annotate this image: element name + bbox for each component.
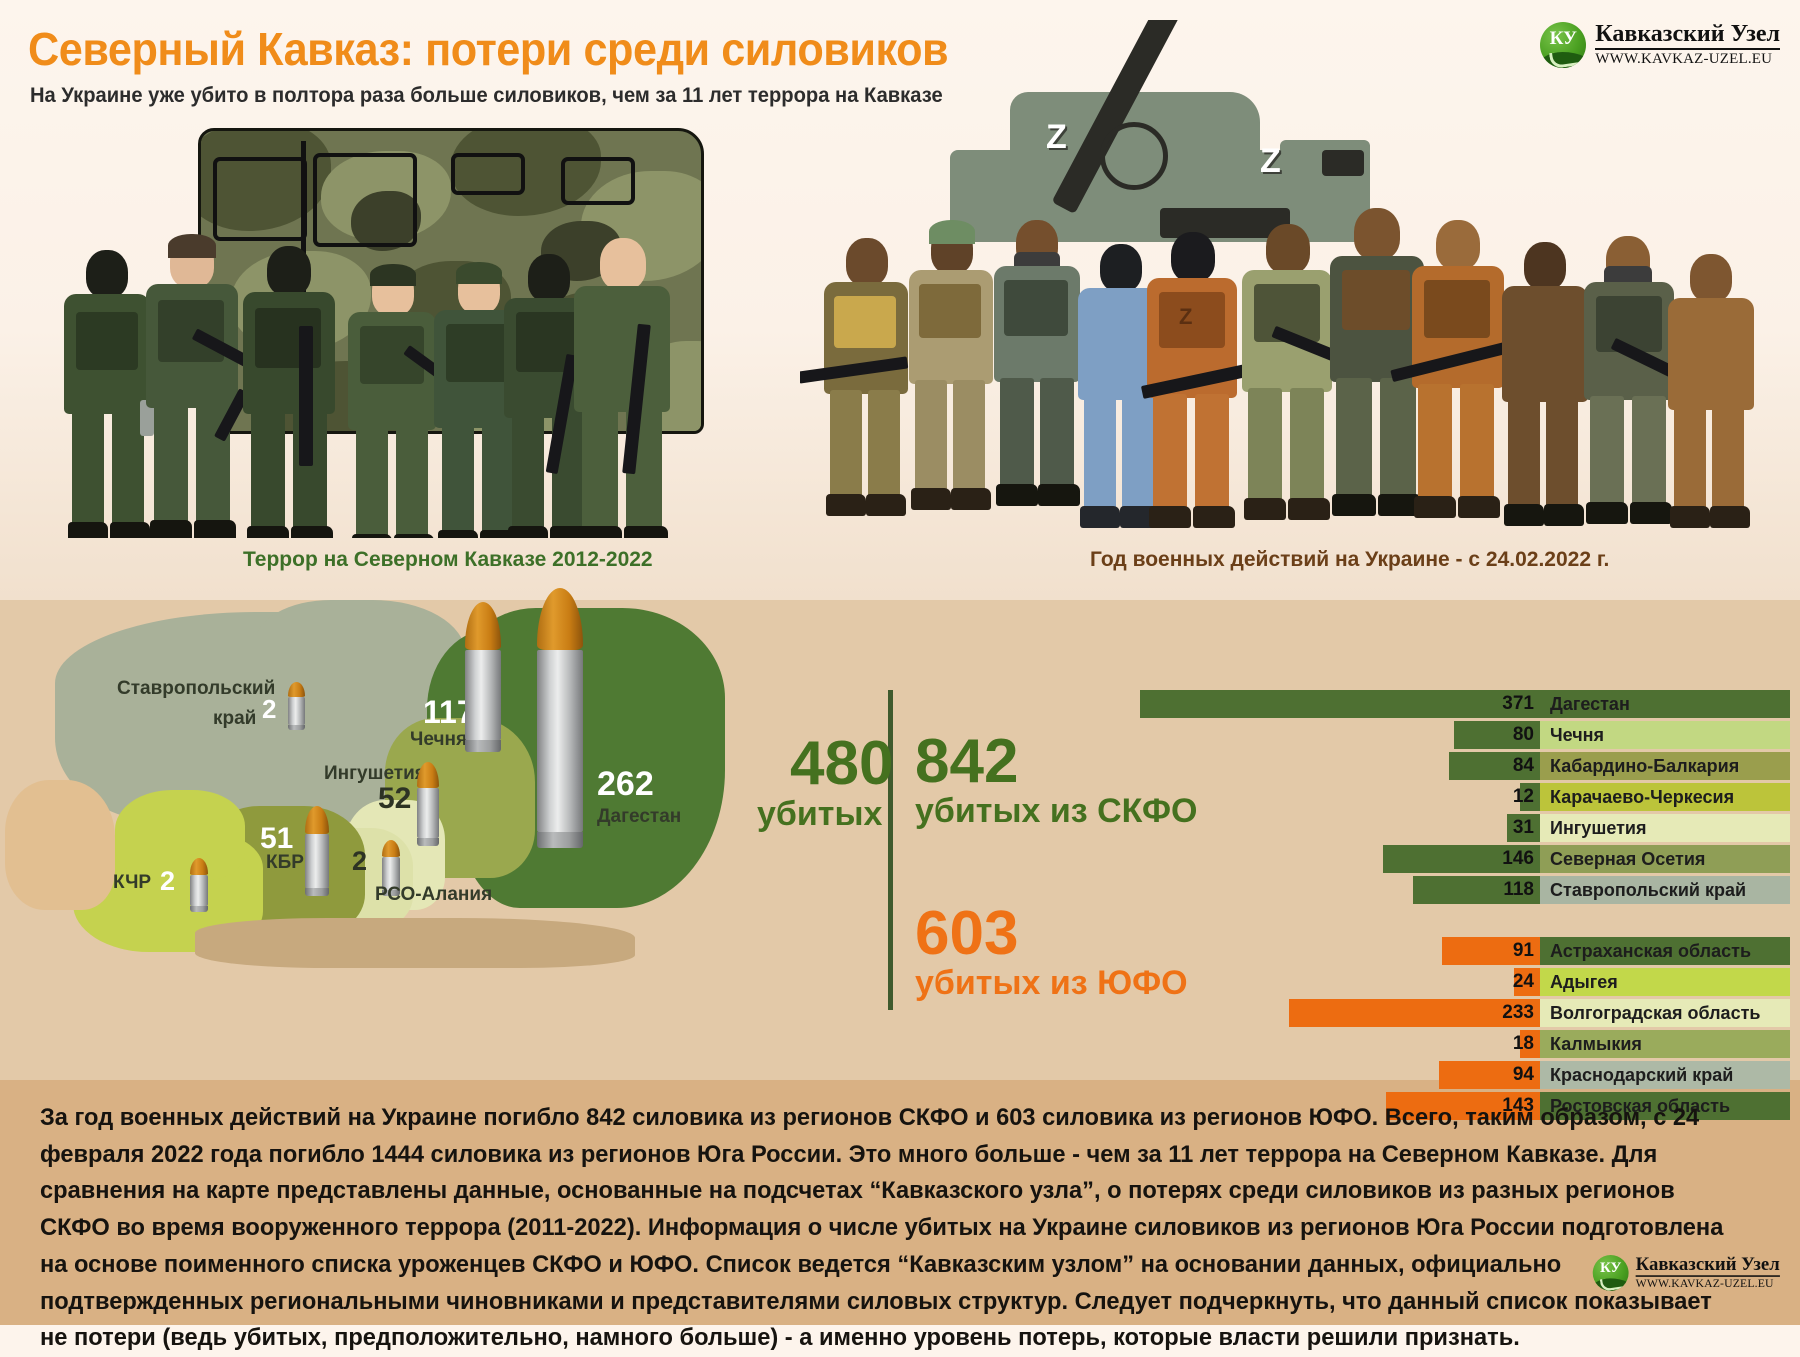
tank-vehicle: Z Z (950, 30, 1380, 260)
map-value-rso: 2 (352, 846, 367, 877)
map-value-dagestan: 262 (597, 765, 654, 804)
apc-window (213, 157, 307, 241)
bullet-icon-dagestan (537, 588, 583, 848)
chart-bar-track: 12 (1130, 783, 1540, 811)
chart-category-text: Северная Осетия (1550, 849, 1705, 870)
chart-bar-track: 91 (1130, 937, 1540, 965)
chart-bar-value: 18 (1513, 1030, 1534, 1058)
z-marking-icon: Z (1046, 118, 1067, 157)
chart-category-label: Адыгея (1540, 968, 1790, 996)
chart-bar-track: 31 (1130, 814, 1540, 842)
chart-row[interactable]: 94Краснодарский край (1130, 1061, 1790, 1089)
caption-right: Год военных действий на Украине - с 24.0… (1090, 548, 1609, 572)
chart-category-label: Ставропольский край (1540, 876, 1790, 904)
bullet-icon-chechnya (465, 602, 501, 752)
chart-bar-track: 18 (1130, 1030, 1540, 1058)
bar-chart-regions: 371Дагестан80Чечня84Кабардино-Балкария12… (1130, 690, 1790, 1123)
summary-map-value: 480 (790, 735, 893, 794)
chart-group-spacer (1130, 907, 1790, 937)
map-label-rso: РСО-Алания (375, 884, 492, 906)
chart-bar-track: 371 (1130, 690, 1540, 718)
map-label-stavropol-1: Ставропольский (117, 678, 275, 700)
logo-monogram: КУ (1593, 1260, 1629, 1277)
apc-window (313, 153, 417, 247)
map-label-kchr: КЧР (113, 872, 151, 894)
map-region-kchr-ext (115, 790, 245, 880)
chart-bar-value: 118 (1503, 876, 1534, 904)
chart-group-skfo: 371Дагестан80Чечня84Кабардино-Балкария12… (1130, 690, 1790, 904)
map-label-stavropol-2: край (213, 708, 256, 730)
chart-bar-track: 84 (1130, 752, 1540, 780)
chart-row[interactable]: 80Чечня (1130, 721, 1790, 749)
apc-hatch (451, 153, 525, 195)
chart-row[interactable]: 146Северная Осетия (1130, 845, 1790, 873)
chart-category-text: Дагестан (1550, 694, 1630, 715)
chart-bar-value: 24 (1513, 968, 1534, 996)
chart-group-yufo: 91Астраханская область24Адыгея233Волгогр… (1130, 937, 1790, 1120)
map-value-kchr: 2 (160, 866, 175, 897)
logo-name: Кавказский Узел (1636, 1255, 1780, 1277)
chart-category-text: Астраханская область (1550, 941, 1751, 962)
chart-category-text: Калмыкия (1550, 1034, 1642, 1055)
z-marking-icon: Z (1179, 304, 1192, 330)
chart-row[interactable]: 24Адыгея (1130, 968, 1790, 996)
summary-map-label: убитых (757, 798, 882, 830)
chart-bar-value: 31 (1513, 814, 1534, 842)
chart-category-text: Кабардино-Балкария (1550, 756, 1739, 777)
illustration-ukraine-forces: Z Z (800, 20, 1780, 538)
chart-row[interactable]: 31Ингушетия (1130, 814, 1790, 842)
chart-bar-value: 91 (1513, 937, 1534, 965)
chart-bar-value: 146 (1502, 845, 1534, 873)
logo-badge-icon: КУ (1593, 1255, 1629, 1291)
rifle-icon (299, 326, 313, 466)
bullet-icon-kbr (305, 806, 329, 896)
chart-bar (1140, 690, 1540, 718)
chart-category-label: Карачаево-Черкесия (1540, 783, 1790, 811)
logo-url: WWW.KAVKAZ-UZEL.EU (1636, 1279, 1780, 1291)
map-label-dagestan: Дагестан (597, 806, 681, 828)
chart-bar-value: 80 (1513, 721, 1534, 749)
summary-skfo-value: 842 (915, 733, 1018, 792)
chart-bar-track: 80 (1130, 721, 1540, 749)
chart-category-text: Волгоградская область (1550, 1003, 1760, 1024)
chart-category-text: Ингушетия (1550, 818, 1646, 839)
chart-category-label: Ингушетия (1540, 814, 1790, 842)
chart-row[interactable]: 91Астраханская область (1130, 937, 1790, 965)
chart-bar-value: 12 (1513, 783, 1534, 811)
map-value-stavropol: 2 (262, 694, 276, 725)
chart-row[interactable]: 233Волгоградская область (1130, 999, 1790, 1027)
map-value-kbr: 51 (260, 822, 293, 856)
chart-row[interactable]: 12Карачаево-Черкесия (1130, 783, 1790, 811)
apc-hatch (561, 157, 635, 205)
chart-category-text: Краснодарский край (1550, 1065, 1733, 1086)
chart-category-text: Ставропольский край (1550, 880, 1746, 901)
chart-category-text: Чечня (1550, 725, 1604, 746)
map-value-ingushetia: 52 (378, 782, 411, 816)
illustration-north-caucasus-forces: СОБР (30, 118, 710, 538)
chart-bar-value: 371 (1502, 690, 1534, 718)
chart-bar-track: 94 (1130, 1061, 1540, 1089)
chart-bar-value: 233 (1502, 999, 1534, 1027)
chart-bar-value: 84 (1513, 752, 1534, 780)
chart-category-text: Карачаево-Черкесия (1550, 787, 1734, 808)
bullet-icon-stavropol (288, 682, 305, 730)
chart-category-text: Адыгея (1550, 972, 1618, 993)
chart-bar-track: 24 (1130, 968, 1540, 996)
caption-left: Террор на Северном Кавказе 2012-2022 (243, 548, 653, 572)
chart-category-label: Краснодарский край (1540, 1061, 1790, 1089)
map-label-chechnya: Чечня (410, 729, 467, 751)
chart-bar-track: 118 (1130, 876, 1540, 904)
chart-category-label: Калмыкия (1540, 1030, 1790, 1058)
chart-category-label: Кабардино-Балкария (1540, 752, 1790, 780)
chart-bar-value: 94 (1513, 1061, 1534, 1089)
chart-row[interactable]: 18Калмыкия (1130, 1030, 1790, 1058)
chart-category-label: Дагестан (1540, 690, 1790, 718)
brand-logo-bottom[interactable]: КУ Кавказский Узел WWW.KAVKAZ-UZEL.EU (1593, 1255, 1780, 1291)
chart-category-label: Чечня (1540, 721, 1790, 749)
bullet-icon-kchr (190, 858, 208, 912)
footer-paragraph: За год военных действий на Украине погиб… (40, 1100, 1734, 1357)
map-region-south-strip (195, 918, 635, 968)
chart-row[interactable]: 118Ставропольский край (1130, 876, 1790, 904)
chart-bar-track: 233 (1130, 999, 1540, 1027)
chart-row[interactable]: 371Дагестан (1130, 690, 1790, 718)
chart-category-label: Северная Осетия (1540, 845, 1790, 873)
chart-category-label: Волгоградская область (1540, 999, 1790, 1027)
bullet-icon-ingushetia (417, 762, 439, 846)
chart-row[interactable]: 84Кабардино-Балкария (1130, 752, 1790, 780)
logo-river-shape (1600, 1276, 1626, 1291)
chart-bar-track: 146 (1130, 845, 1540, 873)
z-marking-icon: Z (1260, 142, 1281, 181)
summary-yufo-value: 603 (915, 905, 1018, 964)
chart-category-label: Астраханская область (1540, 937, 1790, 965)
map-label-kbr: КБР (266, 852, 304, 874)
map-region-krasnodar (5, 780, 115, 910)
